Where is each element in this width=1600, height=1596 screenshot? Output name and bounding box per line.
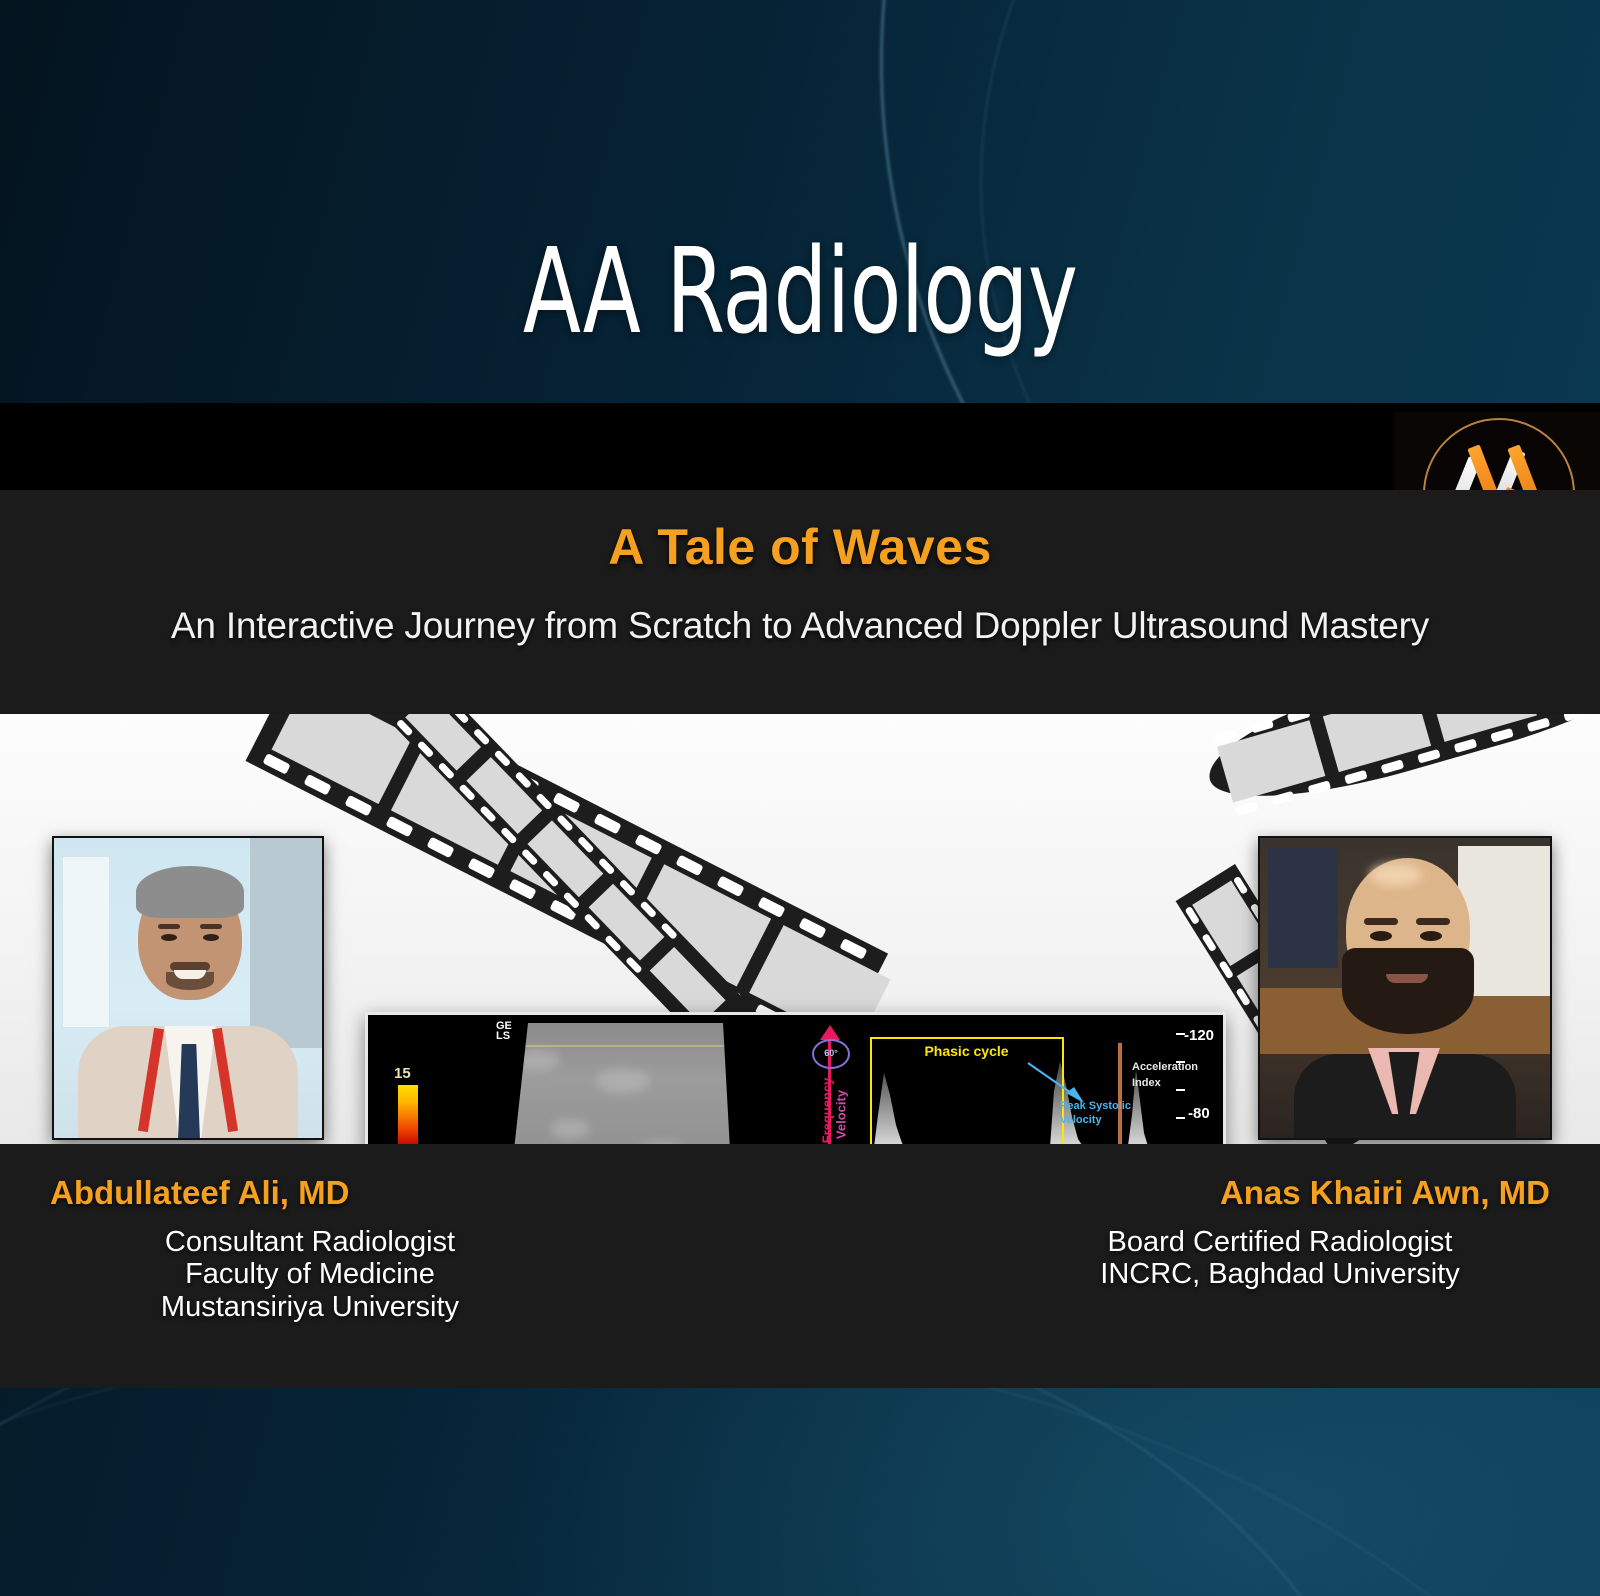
brand-title: AA Radiology	[160, 232, 1440, 350]
media-band: GELS 15 -15 cm/s	[0, 714, 1600, 1144]
speaker-left-line-3: Mustansiriya University	[0, 1291, 620, 1323]
color-scale-bar	[398, 1085, 418, 1144]
doppler-angle-badge: 60°	[812, 1039, 850, 1069]
acceleration-index-label: Acceleration Index	[1132, 1059, 1204, 1091]
machine-label: GELS	[496, 1021, 512, 1041]
header-black-strip	[0, 403, 1600, 490]
speaker-right-name: Anas Khairi Awn, MD	[1220, 1174, 1550, 1212]
speaker-left-line-1: Consultant Radiologist	[0, 1226, 620, 1258]
phasic-cycle-label: Phasic cycle	[884, 1043, 1049, 1059]
color-doppler-image: GELS 15 -15 cm/s	[368, 1015, 788, 1144]
slide-root: AA Radiology Radiology A Tale of Waves A…	[0, 0, 1600, 1596]
talk-subtitle: An Interactive Journey from Scratch to A…	[0, 605, 1600, 647]
spectral-doppler-image: Frequency Velocity Time cm/s Inv -120 -8…	[788, 1015, 1220, 1144]
film-strip-curved-right	[1197, 714, 1600, 824]
talk-title: A Tale of Waves	[0, 518, 1600, 576]
ultrasound-composite-image: GELS 15 -15 cm/s	[365, 1012, 1226, 1144]
frequency-axis-label: Frequency	[820, 1068, 835, 1145]
speaker-left-affiliation: Consultant Radiologist Faculty of Medici…	[0, 1226, 620, 1323]
tick-label-minus120: -120	[1184, 1027, 1214, 1044]
speaker-photo-left	[52, 836, 324, 1140]
tick-label-minus80: -80	[1188, 1105, 1210, 1122]
content-panel: A Tale of Waves An Interactive Journey f…	[0, 490, 1600, 1388]
peak-systolic-velocity-label: Peak Systolic Velocity	[1060, 1099, 1138, 1127]
speakers-footer: Abdullateef Ali, MD Consultant Radiologi…	[0, 1144, 1600, 1388]
velocity-axis-label: Velocity	[834, 1076, 849, 1145]
speaker-left-name: Abdullateef Ali, MD	[50, 1174, 349, 1212]
speaker-right-line-2: INCRC, Baghdad University	[960, 1258, 1600, 1290]
acceleration-time-marker	[1118, 1043, 1122, 1144]
speaker-left-line-2: Faculty of Medicine	[0, 1258, 620, 1290]
speaker-photo-right	[1258, 836, 1552, 1140]
velocity-color-scale: 15 -15 cm/s	[394, 1065, 464, 1144]
speaker-right-affiliation: Board Certified Radiologist INCRC, Baghd…	[960, 1226, 1600, 1291]
scale-max-label: 15	[394, 1065, 464, 1082]
speaker-right-line-1: Board Certified Radiologist	[960, 1226, 1600, 1258]
peak-systolic-leader	[1026, 1061, 1086, 1103]
